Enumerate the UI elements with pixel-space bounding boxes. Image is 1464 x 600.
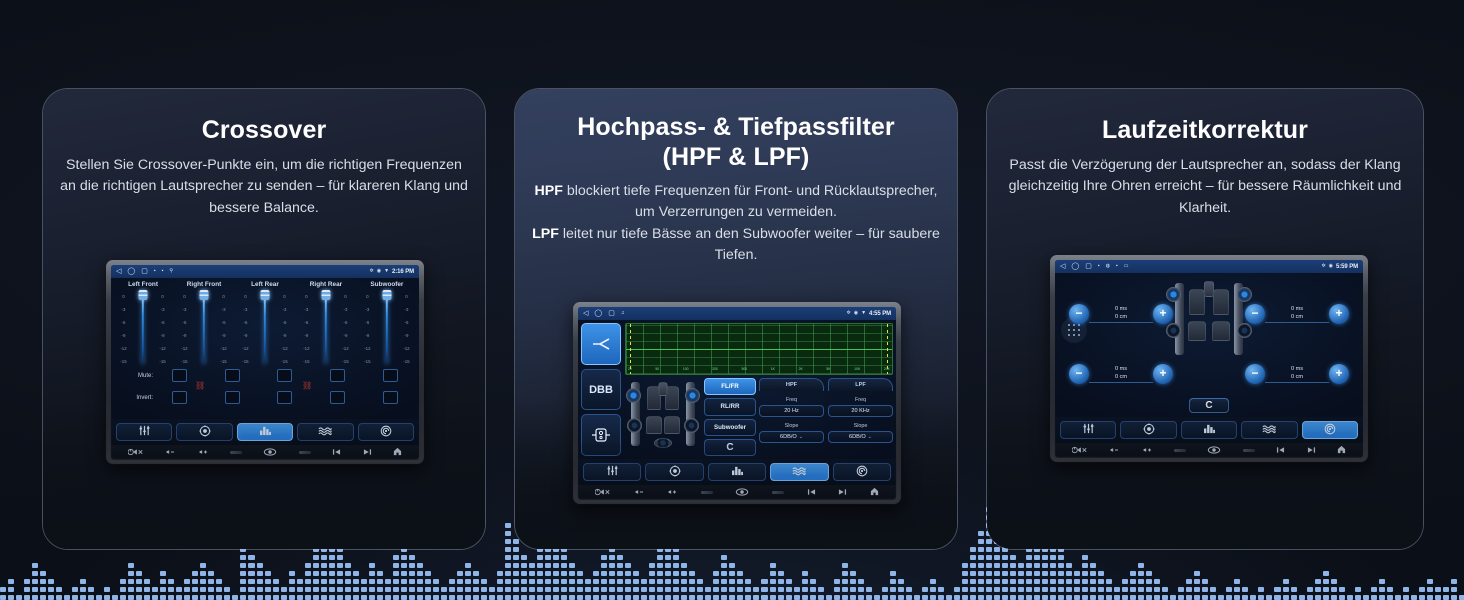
eq-segment <box>625 571 631 576</box>
eq-segment <box>649 563 655 568</box>
decrease-button[interactable]: − <box>1245 304 1265 324</box>
eq-segment <box>553 587 559 592</box>
delay-control-rear-left: −0 ms0 cm+ <box>1069 361 1173 387</box>
eq-segment <box>417 563 423 568</box>
eq-bar <box>1371 587 1377 600</box>
eq-bar <box>625 563 631 600</box>
eq-segment <box>377 579 383 584</box>
eq-segment <box>369 595 375 600</box>
softkey-home[interactable] <box>393 447 402 458</box>
eq-bar <box>0 587 6 600</box>
eq-segment <box>1162 587 1168 592</box>
tab-balance[interactable] <box>176 423 232 441</box>
softkey-next[interactable] <box>363 448 372 458</box>
bar-chart-icon <box>259 425 272 436</box>
eq-segment <box>1186 587 1192 592</box>
eq-segment <box>1090 563 1096 568</box>
eq-bar <box>417 563 423 600</box>
hpf-text: blockiert tiefe Frequenzen für Front- un… <box>563 183 938 220</box>
eq-segment <box>1435 595 1441 600</box>
checkbox[interactable] <box>330 369 345 382</box>
softkey-volume-up[interactable] <box>667 488 678 498</box>
soft-key-bar[interactable] <box>578 485 896 500</box>
softkey-slider-right[interactable] <box>1243 449 1255 452</box>
speaker-front-right <box>685 388 700 403</box>
eq-bar <box>24 579 30 600</box>
eq-segment <box>385 579 391 584</box>
softkey-volume-down[interactable] <box>165 448 176 458</box>
eq-segment <box>297 587 303 592</box>
eq-segment <box>1098 595 1104 600</box>
slope-group: Slope6DB/O⌄ <box>759 423 824 443</box>
increase-button[interactable]: + <box>1329 364 1349 384</box>
softkey-slider-left[interactable] <box>1174 449 1186 452</box>
speaker-layout-button[interactable] <box>581 414 621 456</box>
eq-bar <box>1283 579 1289 600</box>
eq-segment <box>1202 595 1208 600</box>
eq-segment <box>1234 595 1240 600</box>
eq-segment <box>970 595 976 600</box>
channel-slider[interactable]: 00-3-3-6-6-9-9-12-12-15-15 <box>178 290 230 366</box>
checkbox[interactable] <box>383 391 398 404</box>
eq-segment <box>240 595 246 600</box>
seat-rear-right <box>1212 321 1230 341</box>
eq-segment <box>962 571 968 576</box>
reset-button[interactable]: C <box>1189 398 1229 413</box>
eq-segment <box>1234 579 1240 584</box>
softkey-slider-right[interactable] <box>299 451 311 454</box>
eq-segment <box>882 587 888 592</box>
eq-segment <box>393 579 399 584</box>
delay-control-rear-right: −0 ms0 cm+ <box>1245 361 1349 387</box>
eq-bar <box>1339 587 1345 600</box>
slope-group: Slope6DB/O⌄ <box>828 423 893 443</box>
eq-segment <box>200 571 206 576</box>
scale-label: -12 <box>239 346 252 351</box>
crossover-shape-icon <box>591 337 611 351</box>
selector-rl-rr[interactable]: RL/RR <box>704 398 756 415</box>
eq-segment <box>545 595 551 600</box>
eq-segment <box>505 571 511 576</box>
eq-segment <box>313 555 319 560</box>
increase-button[interactable]: + <box>1153 364 1173 384</box>
eq-segment <box>0 595 6 600</box>
eq-segment <box>32 595 38 600</box>
eq-segment <box>1154 587 1160 592</box>
increase-button[interactable]: + <box>1329 304 1349 324</box>
eq-segment <box>994 587 1000 592</box>
tab-equalizer-sliders[interactable] <box>1060 421 1116 439</box>
slider-knob[interactable] <box>139 290 148 300</box>
eq-segment <box>433 595 439 600</box>
back-icon[interactable]: ◁ <box>1060 263 1065 270</box>
scale-label: -9 <box>300 333 313 338</box>
eq-segment <box>601 579 607 584</box>
softkey-eye[interactable] <box>735 488 749 498</box>
eq-segment <box>1114 587 1120 592</box>
eq-segment <box>842 563 848 568</box>
tab-filters[interactable] <box>297 423 353 441</box>
eq-bar <box>216 579 222 600</box>
eq-bar <box>745 579 751 600</box>
crossover-shape-button[interactable] <box>581 323 621 365</box>
eq-segment <box>465 563 471 568</box>
eq-segment <box>625 563 631 568</box>
eq-segment <box>1010 563 1016 568</box>
eq-bar <box>1443 587 1449 600</box>
eq-segment <box>1274 595 1280 600</box>
decrease-button[interactable]: − <box>1069 364 1089 384</box>
mode-buttons[interactable]: DBB <box>581 323 621 456</box>
softkey-power-mute[interactable] <box>595 488 611 498</box>
eq-segment <box>401 587 407 592</box>
softkey-slider-right[interactable] <box>772 491 784 494</box>
tab-time-alignment[interactable] <box>833 463 891 481</box>
checkbox[interactable] <box>225 369 240 382</box>
eq-segment <box>1138 595 1144 600</box>
softkey-volume-down[interactable] <box>1109 446 1120 456</box>
eq-segment <box>425 579 431 584</box>
nav-buttons[interactable]: ◁ ◯ ▢ ♫ <box>583 310 625 317</box>
eq-segment <box>32 571 38 576</box>
chevron-down-icon: ⌄ <box>868 434 872 440</box>
softkey-previous[interactable] <box>807 488 816 498</box>
softkey-previous[interactable] <box>1276 446 1285 456</box>
eq-segment <box>802 579 808 584</box>
eq-segment <box>617 587 623 592</box>
eq-segment <box>192 587 198 592</box>
page-title: Crossover <box>59 116 469 145</box>
decrease-button[interactable]: − <box>1069 304 1089 324</box>
sliders-icon <box>606 465 619 476</box>
slider-knob[interactable] <box>321 290 330 300</box>
eq-segment <box>1323 579 1329 584</box>
tab-equalizer-sliders[interactable] <box>116 423 172 441</box>
eq-bar <box>1066 563 1072 600</box>
tab-balance[interactable] <box>645 463 703 481</box>
eq-segment <box>353 571 359 576</box>
eq-segment <box>689 579 695 584</box>
eq-segment <box>24 579 30 584</box>
eq-segment <box>393 595 399 600</box>
spiral-icon <box>380 425 392 440</box>
recents-icon[interactable]: ▢ <box>141 268 148 275</box>
softkey-power-mute[interactable] <box>128 448 144 458</box>
eq-bar <box>289 571 295 600</box>
eq-segment <box>56 587 62 592</box>
eq-bar <box>593 571 599 600</box>
eq-bar <box>1250 595 1256 600</box>
eq-segment <box>248 579 254 584</box>
location-icon: ◉ <box>377 269 381 274</box>
checkbox[interactable] <box>172 369 187 382</box>
eq-segment <box>449 587 455 592</box>
eq-segment <box>1018 579 1024 584</box>
selector-fl-fr[interactable]: FL/FR <box>704 378 756 395</box>
eq-segment <box>192 595 198 600</box>
checkbox[interactable] <box>277 369 292 382</box>
eq-bar <box>208 571 214 600</box>
eq-bar <box>1106 579 1112 600</box>
softkey-next[interactable] <box>1307 446 1316 456</box>
eq-segment <box>1419 595 1425 600</box>
title-line-1: Hochpass- & Tiefpassfilter <box>577 113 895 141</box>
selector-subwoofer[interactable]: Subwoofer <box>704 419 756 436</box>
eq-segment <box>112 595 118 600</box>
checkbox[interactable] <box>277 391 292 404</box>
eq-segment <box>265 595 271 600</box>
eq-segment <box>1242 595 1248 600</box>
tab-crossover[interactable] <box>1181 421 1237 439</box>
eq-segment <box>1106 595 1112 600</box>
eq-segment <box>721 555 727 560</box>
eq-bar <box>1026 547 1032 600</box>
tab-filters[interactable] <box>770 463 828 481</box>
eq-segment <box>721 587 727 592</box>
checkbox[interactable] <box>225 391 240 404</box>
eq-segment <box>200 595 206 600</box>
eq-segment <box>601 587 607 592</box>
eq-segment <box>545 555 551 560</box>
freq-value[interactable]: 20 KHz <box>828 405 893 417</box>
nav-buttons[interactable]: ◁ ◯ ▢ ▪ ◍ ▪ ▭ <box>1060 263 1129 270</box>
eq-segment <box>441 595 447 600</box>
eq-segment <box>625 595 631 600</box>
softkey-volume-up[interactable] <box>198 448 209 458</box>
eq-segment <box>297 595 303 600</box>
app-icon-2: ◍ <box>1106 264 1110 269</box>
home-icon[interactable]: ◯ <box>1071 263 1079 270</box>
eq-segment <box>994 595 1000 600</box>
feature-tab-bar[interactable] <box>1055 417 1363 443</box>
home-icon[interactable]: ◯ <box>594 310 602 317</box>
scale-label: -3 <box>278 307 291 312</box>
head-unit-crossover: ◁ ◯ ▢ ▪ ▪ ⚲ ✲ ◉ ▼ 2:16 PM <box>106 260 424 464</box>
tab-time-alignment[interactable] <box>358 423 414 441</box>
bar-chart-icon <box>1203 423 1216 434</box>
channel-selector[interactable]: FL/FRRL/RRSubwooferC <box>704 378 756 456</box>
eq-segment <box>1050 587 1056 592</box>
eq-segment <box>208 595 214 600</box>
eq-bar <box>882 587 888 600</box>
filter-header: LPF <box>828 378 893 391</box>
eq-segment <box>240 579 246 584</box>
eq-segment <box>713 587 719 592</box>
eq-segment <box>609 563 615 568</box>
eq-segment <box>265 587 271 592</box>
tab-crossover[interactable] <box>708 463 766 481</box>
eq-bar <box>753 587 759 600</box>
eq-segment <box>1146 595 1152 600</box>
softkey-previous[interactable] <box>332 448 341 458</box>
eq-segment <box>361 587 367 592</box>
music-icon: ♫ <box>621 311 625 316</box>
checkbox-cell <box>262 391 307 404</box>
page-title: Hochpass- & Tiefpassfilter (HPF & LPF) <box>531 113 941 172</box>
eq-segment <box>1074 587 1080 592</box>
tab-balance[interactable] <box>1120 421 1176 439</box>
soft-key-bar[interactable] <box>1055 443 1363 458</box>
freq-group: Freq20 Hz <box>759 397 824 417</box>
eq-segment <box>1202 579 1208 584</box>
slider-knob[interactable] <box>382 290 391 300</box>
freq-value[interactable]: 20 Hz <box>759 405 824 417</box>
eq-segment <box>1058 571 1064 576</box>
eq-segment <box>1371 595 1377 600</box>
eq-segment <box>160 587 166 592</box>
recents-icon[interactable]: ▢ <box>1085 263 1092 270</box>
eq-bar <box>481 579 487 600</box>
eq-segment <box>930 595 936 600</box>
eq-bar <box>1114 587 1120 600</box>
eq-segment <box>40 579 46 584</box>
scale-label: -3 <box>217 307 230 312</box>
delay-ms: 0 ms <box>1265 365 1329 373</box>
eq-segment <box>593 595 599 600</box>
eq-segment <box>425 595 431 600</box>
eq-segment <box>906 587 912 592</box>
eq-segment <box>930 579 936 584</box>
eq-segment <box>1363 595 1369 600</box>
softkey-volume-up[interactable] <box>1142 446 1153 456</box>
eq-segment <box>713 595 719 600</box>
softkey-next[interactable] <box>838 488 847 498</box>
channel-label: Subwoofer <box>361 281 413 288</box>
eq-segment <box>1002 571 1008 576</box>
eq-segment <box>1379 595 1385 600</box>
softkey-home[interactable] <box>870 487 879 498</box>
eq-segment <box>978 595 984 600</box>
eq-segment <box>425 571 431 576</box>
eq-segment <box>1355 595 1361 600</box>
softkey-home[interactable] <box>1337 445 1346 456</box>
eq-segment <box>505 539 511 544</box>
eq-segment <box>617 579 623 584</box>
eq-segment <box>457 571 463 576</box>
eq-segment <box>248 587 254 592</box>
eq-bar <box>297 579 303 600</box>
eq-segment <box>481 579 487 584</box>
softkey-eye[interactable] <box>263 448 277 458</box>
eq-bar <box>232 595 238 600</box>
eq-segment <box>257 571 263 576</box>
eq-segment <box>834 587 840 592</box>
checkbox[interactable] <box>383 369 398 382</box>
back-icon[interactable]: ◁ <box>116 268 121 275</box>
eq-segment <box>1042 555 1048 560</box>
eq-segment <box>842 587 848 592</box>
eq-segment <box>673 587 679 592</box>
softkey-eye[interactable] <box>1207 446 1221 456</box>
eq-segment <box>1074 571 1080 576</box>
channel-slider[interactable]: 00-3-3-6-6-9-9-12-12-15-15 <box>361 290 413 366</box>
eq-segment <box>128 579 134 584</box>
nav-buttons[interactable]: ◁ ◯ ▢ ▪ ▪ ⚲ <box>116 268 173 275</box>
eq-segment <box>1114 595 1120 600</box>
eq-segment <box>417 595 423 600</box>
eq-bar <box>890 571 896 600</box>
home-icon[interactable]: ◯ <box>127 268 135 275</box>
eq-segment <box>577 595 583 600</box>
selector-c[interactable]: C <box>704 439 756 456</box>
eq-segment <box>1307 587 1313 592</box>
channel-slider[interactable]: 00-3-3-6-6-9-9-12-12-15-15 <box>239 290 291 366</box>
softkey-slider-left[interactable] <box>701 491 713 494</box>
eq-segment <box>569 563 575 568</box>
eq-bar <box>1347 595 1353 600</box>
eq-segment <box>890 579 896 584</box>
tab-time-alignment[interactable] <box>1302 421 1358 439</box>
eq-bar <box>72 587 78 600</box>
back-icon[interactable]: ◁ <box>583 310 588 317</box>
tab-crossover[interactable] <box>237 423 293 441</box>
eq-segment <box>1395 595 1401 600</box>
slider-knob[interactable] <box>260 290 269 300</box>
tab-filters[interactable] <box>1241 421 1297 439</box>
eq-segment <box>521 571 527 576</box>
device-bezel: ◁ ◯ ▢ ▪ ◍ ▪ ▭ ✲ ◉ 5:59 PM <box>1050 255 1368 462</box>
eq-segment <box>481 595 487 600</box>
softkey-slider-left[interactable] <box>230 451 242 454</box>
dbb-button[interactable]: DBB <box>581 369 621 411</box>
eq-bar <box>898 579 904 600</box>
feature-tab-bar[interactable] <box>111 419 419 445</box>
spiral-icon <box>1324 423 1336 435</box>
eq-segment <box>697 579 703 584</box>
channel-slider[interactable]: 00-3-3-6-6-9-9-12-12-15-15 <box>300 290 352 366</box>
eq-segment <box>1258 587 1264 592</box>
eq-segment <box>40 587 46 592</box>
feature-tab-bar[interactable] <box>578 459 896 485</box>
eq-segment <box>88 595 94 600</box>
channel-slider[interactable]: 00-3-3-6-6-9-9-12-12-15-15 <box>117 290 169 366</box>
slope-value[interactable]: 6DB/O⌄ <box>828 431 893 443</box>
freq-label: Freq <box>828 397 893 403</box>
card-description: HPF blockiert tiefe Frequenzen für Front… <box>531 181 941 266</box>
soft-key-bar[interactable] <box>111 445 419 460</box>
eq-segment <box>1002 595 1008 600</box>
eq-segment <box>906 595 912 600</box>
eq-segment <box>721 579 727 584</box>
scale-label: -3 <box>178 307 191 312</box>
checkbox[interactable] <box>330 391 345 404</box>
eq-segment <box>505 555 511 560</box>
graph-tick: 10K <box>854 367 860 374</box>
slider-knob[interactable] <box>200 290 209 300</box>
checkbox-cell <box>368 369 413 382</box>
decrease-button[interactable]: − <box>1245 364 1265 384</box>
eq-segment <box>473 587 479 592</box>
recents-icon[interactable]: ▢ <box>608 310 615 317</box>
eq-segment <box>770 587 776 592</box>
tab-equalizer-sliders[interactable] <box>583 463 641 481</box>
eq-segment <box>1066 579 1072 584</box>
eq-bar <box>80 579 86 600</box>
filter-header: HPF <box>759 378 824 391</box>
softkey-power-mute[interactable] <box>1072 446 1088 456</box>
eq-segment <box>721 595 727 600</box>
eq-segment <box>986 563 992 568</box>
eq-segment <box>305 595 311 600</box>
softkey-volume-down[interactable] <box>634 488 645 498</box>
increase-button[interactable]: + <box>1153 304 1173 324</box>
eq-segment <box>497 571 503 576</box>
checkbox[interactable] <box>172 391 187 404</box>
eq-segment <box>409 587 415 592</box>
eq-segment <box>673 571 679 576</box>
invert-checkboxes <box>157 391 413 404</box>
slope-value[interactable]: 6DB/O⌄ <box>759 431 824 443</box>
